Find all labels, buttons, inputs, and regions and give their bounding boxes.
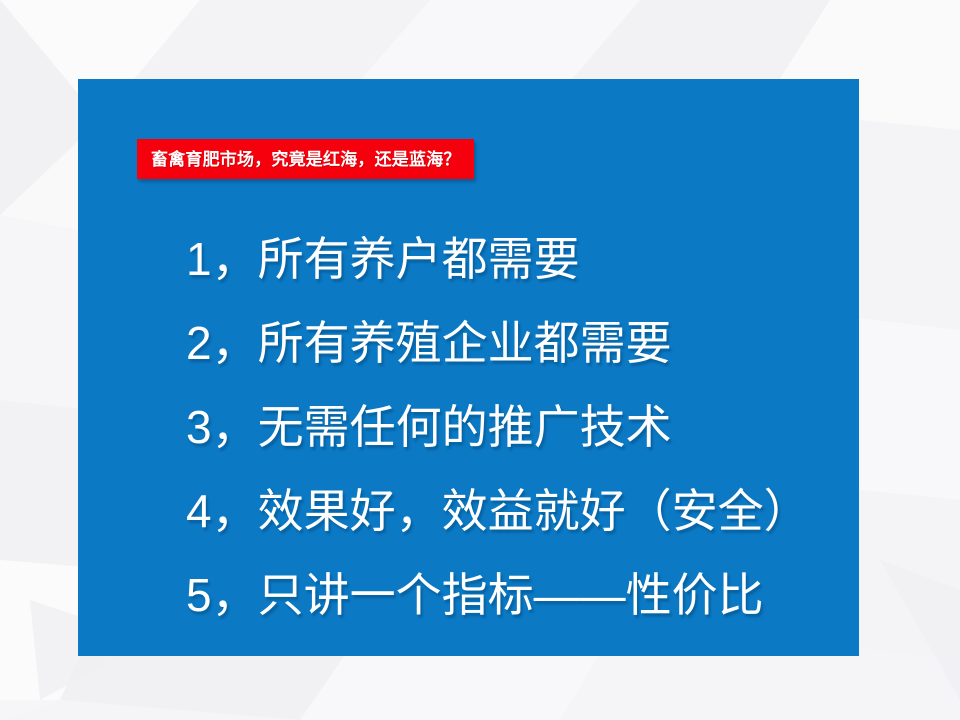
bullet-list: 1，所有养户都需要 2，所有养殖企业都需要 3，无需任何的推广技术 4，效果好，… <box>186 217 846 637</box>
section-banner: 畜禽育肥市场，究竟是红海，还是蓝海？ <box>137 139 474 179</box>
section-banner-label: 畜禽育肥市场，究竟是红海，还是蓝海？ <box>151 151 461 168</box>
content-panel: 畜禽育肥市场，究竟是红海，还是蓝海？ 1，所有养户都需要 2，所有养殖企业都需要… <box>78 79 859 656</box>
bullet-item-5: 5，只讲一个指标——性价比 <box>186 553 846 637</box>
slide-canvas: 畜禽育肥市场，究竟是红海，还是蓝海？ 1，所有养户都需要 2，所有养殖企业都需要… <box>0 0 960 720</box>
bullet-item-1: 1，所有养户都需要 <box>186 217 846 301</box>
bullet-item-2: 2，所有养殖企业都需要 <box>186 301 846 385</box>
bullet-item-4: 4，效果好，效益就好（安全） <box>186 469 846 553</box>
bullet-item-3: 3，无需任何的推广技术 <box>186 385 846 469</box>
